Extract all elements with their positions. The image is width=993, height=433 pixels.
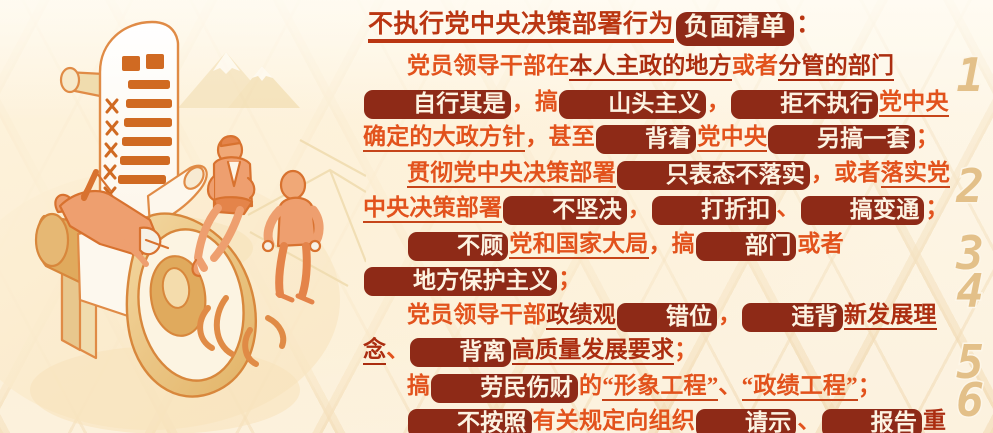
negative-list-item: 贯彻党中央决策部署只表态不落实，或者落实党中央决策部署不坚决，打折扣、搞变通； bbox=[363, 155, 963, 226]
highlight-tag: 不顾 bbox=[408, 232, 508, 261]
text-run: “形象工程” bbox=[602, 373, 718, 401]
text-run: 本人主政的地方 bbox=[569, 53, 731, 81]
highlight-tag: 错位 bbox=[617, 303, 717, 332]
text-run: 党中央 bbox=[697, 124, 767, 152]
highlight-tag: 另搞一套 bbox=[768, 125, 915, 154]
text-run: ； bbox=[674, 337, 697, 362]
highlight-tag: 劳民伤财 bbox=[431, 374, 578, 403]
text-run: ，搞 bbox=[649, 231, 695, 256]
highlight-tag: 打折扣 bbox=[652, 196, 776, 225]
highlight-tag: 拒不执行 bbox=[731, 90, 878, 119]
highlight-tag: 山头主义 bbox=[559, 90, 706, 119]
highlight-tag: 不按照 bbox=[408, 409, 532, 433]
text-run: 党员领导干部在 bbox=[407, 53, 569, 78]
text-run: 有关规定 bbox=[533, 408, 626, 433]
text-run: 、 bbox=[718, 373, 741, 398]
text-run: “政绩工程” bbox=[742, 373, 858, 401]
text-run: 的 bbox=[579, 373, 602, 398]
heading-title: 不执行党中央决策部署行为 bbox=[368, 11, 674, 43]
text-run: 、 bbox=[797, 408, 820, 433]
text-run: ； bbox=[916, 124, 939, 149]
text-run: ； bbox=[858, 373, 881, 398]
text-run: ； bbox=[925, 195, 948, 220]
highlight-tag: 背着 bbox=[596, 125, 696, 154]
highlight-tag: 报告 bbox=[822, 409, 922, 433]
negative-list-item: 不按照有关规定向组织请示、报告重大事项。 bbox=[363, 403, 963, 433]
text-run: 、 bbox=[777, 195, 800, 220]
text-run: 搞 bbox=[407, 373, 430, 398]
text-run: 或者 bbox=[797, 231, 843, 256]
text-run: 高质量发展要求 bbox=[512, 337, 674, 365]
highlight-tag: 搞变通 bbox=[801, 196, 925, 225]
content-column: 1 2 3 4 5 6 不执行党中央决策部署行为负面清单： 党员领导干部在本人主… bbox=[363, 0, 993, 433]
text-run: ， bbox=[718, 302, 741, 327]
text-run: 党和国家大局 bbox=[509, 231, 648, 259]
text-run: ， bbox=[628, 195, 651, 220]
text-run: 、 bbox=[386, 337, 409, 362]
text-run: ， bbox=[512, 89, 535, 114]
heading-colon: ： bbox=[796, 11, 821, 38]
text-run: 政绩观 bbox=[546, 302, 616, 330]
poster-root: 1 2 3 4 5 6 不执行党中央决策部署行为负面清单： 党员领导干部在本人主… bbox=[0, 0, 993, 433]
highlight-tag: 地方保护主义 bbox=[364, 267, 557, 296]
text-run: ，或者 bbox=[811, 160, 881, 185]
highlight-tag: 违背 bbox=[742, 303, 842, 332]
highlight-tag: 部门 bbox=[696, 232, 796, 261]
text-run: ， bbox=[707, 89, 730, 114]
text-run: 向组织 bbox=[625, 408, 695, 433]
highlight-tag: 背离 bbox=[410, 338, 510, 367]
text-run: ，甚至 bbox=[525, 124, 595, 149]
negative-list-item: 党员领导干部在本人主政的地方或者分管的部门自行其是，搞山头主义，拒不执行党中央确… bbox=[363, 48, 963, 155]
mountains-icon bbox=[178, 52, 300, 108]
text-run: 搞 bbox=[535, 89, 558, 114]
text-run: 或者 bbox=[732, 53, 778, 78]
negative-list-body: 党员领导干部在本人主政的地方或者分管的部门自行其是，搞山头主义，拒不执行党中央确… bbox=[363, 48, 963, 433]
illustration-megaphone-scene bbox=[0, 0, 366, 433]
poster-heading: 不执行党中央决策部署行为负面清单： bbox=[368, 6, 968, 46]
text-run: 贯彻党中央决策部署 bbox=[407, 160, 616, 188]
highlight-tag: 自行其是 bbox=[364, 90, 511, 119]
heading-badge: 负面清单 bbox=[676, 12, 794, 46]
highlight-tag: 只表态不落实 bbox=[617, 161, 810, 190]
highlight-tag: 不坚决 bbox=[503, 196, 627, 225]
negative-list-item: 党员领导干部政绩观错位，违背新发展理念、背离高质量发展要求； bbox=[363, 297, 963, 368]
negative-list-item: 不顾党和国家大局，搞部门或者地方保护主义； bbox=[363, 226, 963, 297]
text-run: ； bbox=[558, 266, 581, 291]
text-run: 分管的部门 bbox=[778, 53, 894, 81]
negative-list-item: 搞劳民伤财的“形象工程”、“政绩工程”； bbox=[363, 368, 963, 404]
text-run: 党员领导干部 bbox=[407, 302, 546, 327]
highlight-tag: 请示 bbox=[696, 409, 796, 433]
